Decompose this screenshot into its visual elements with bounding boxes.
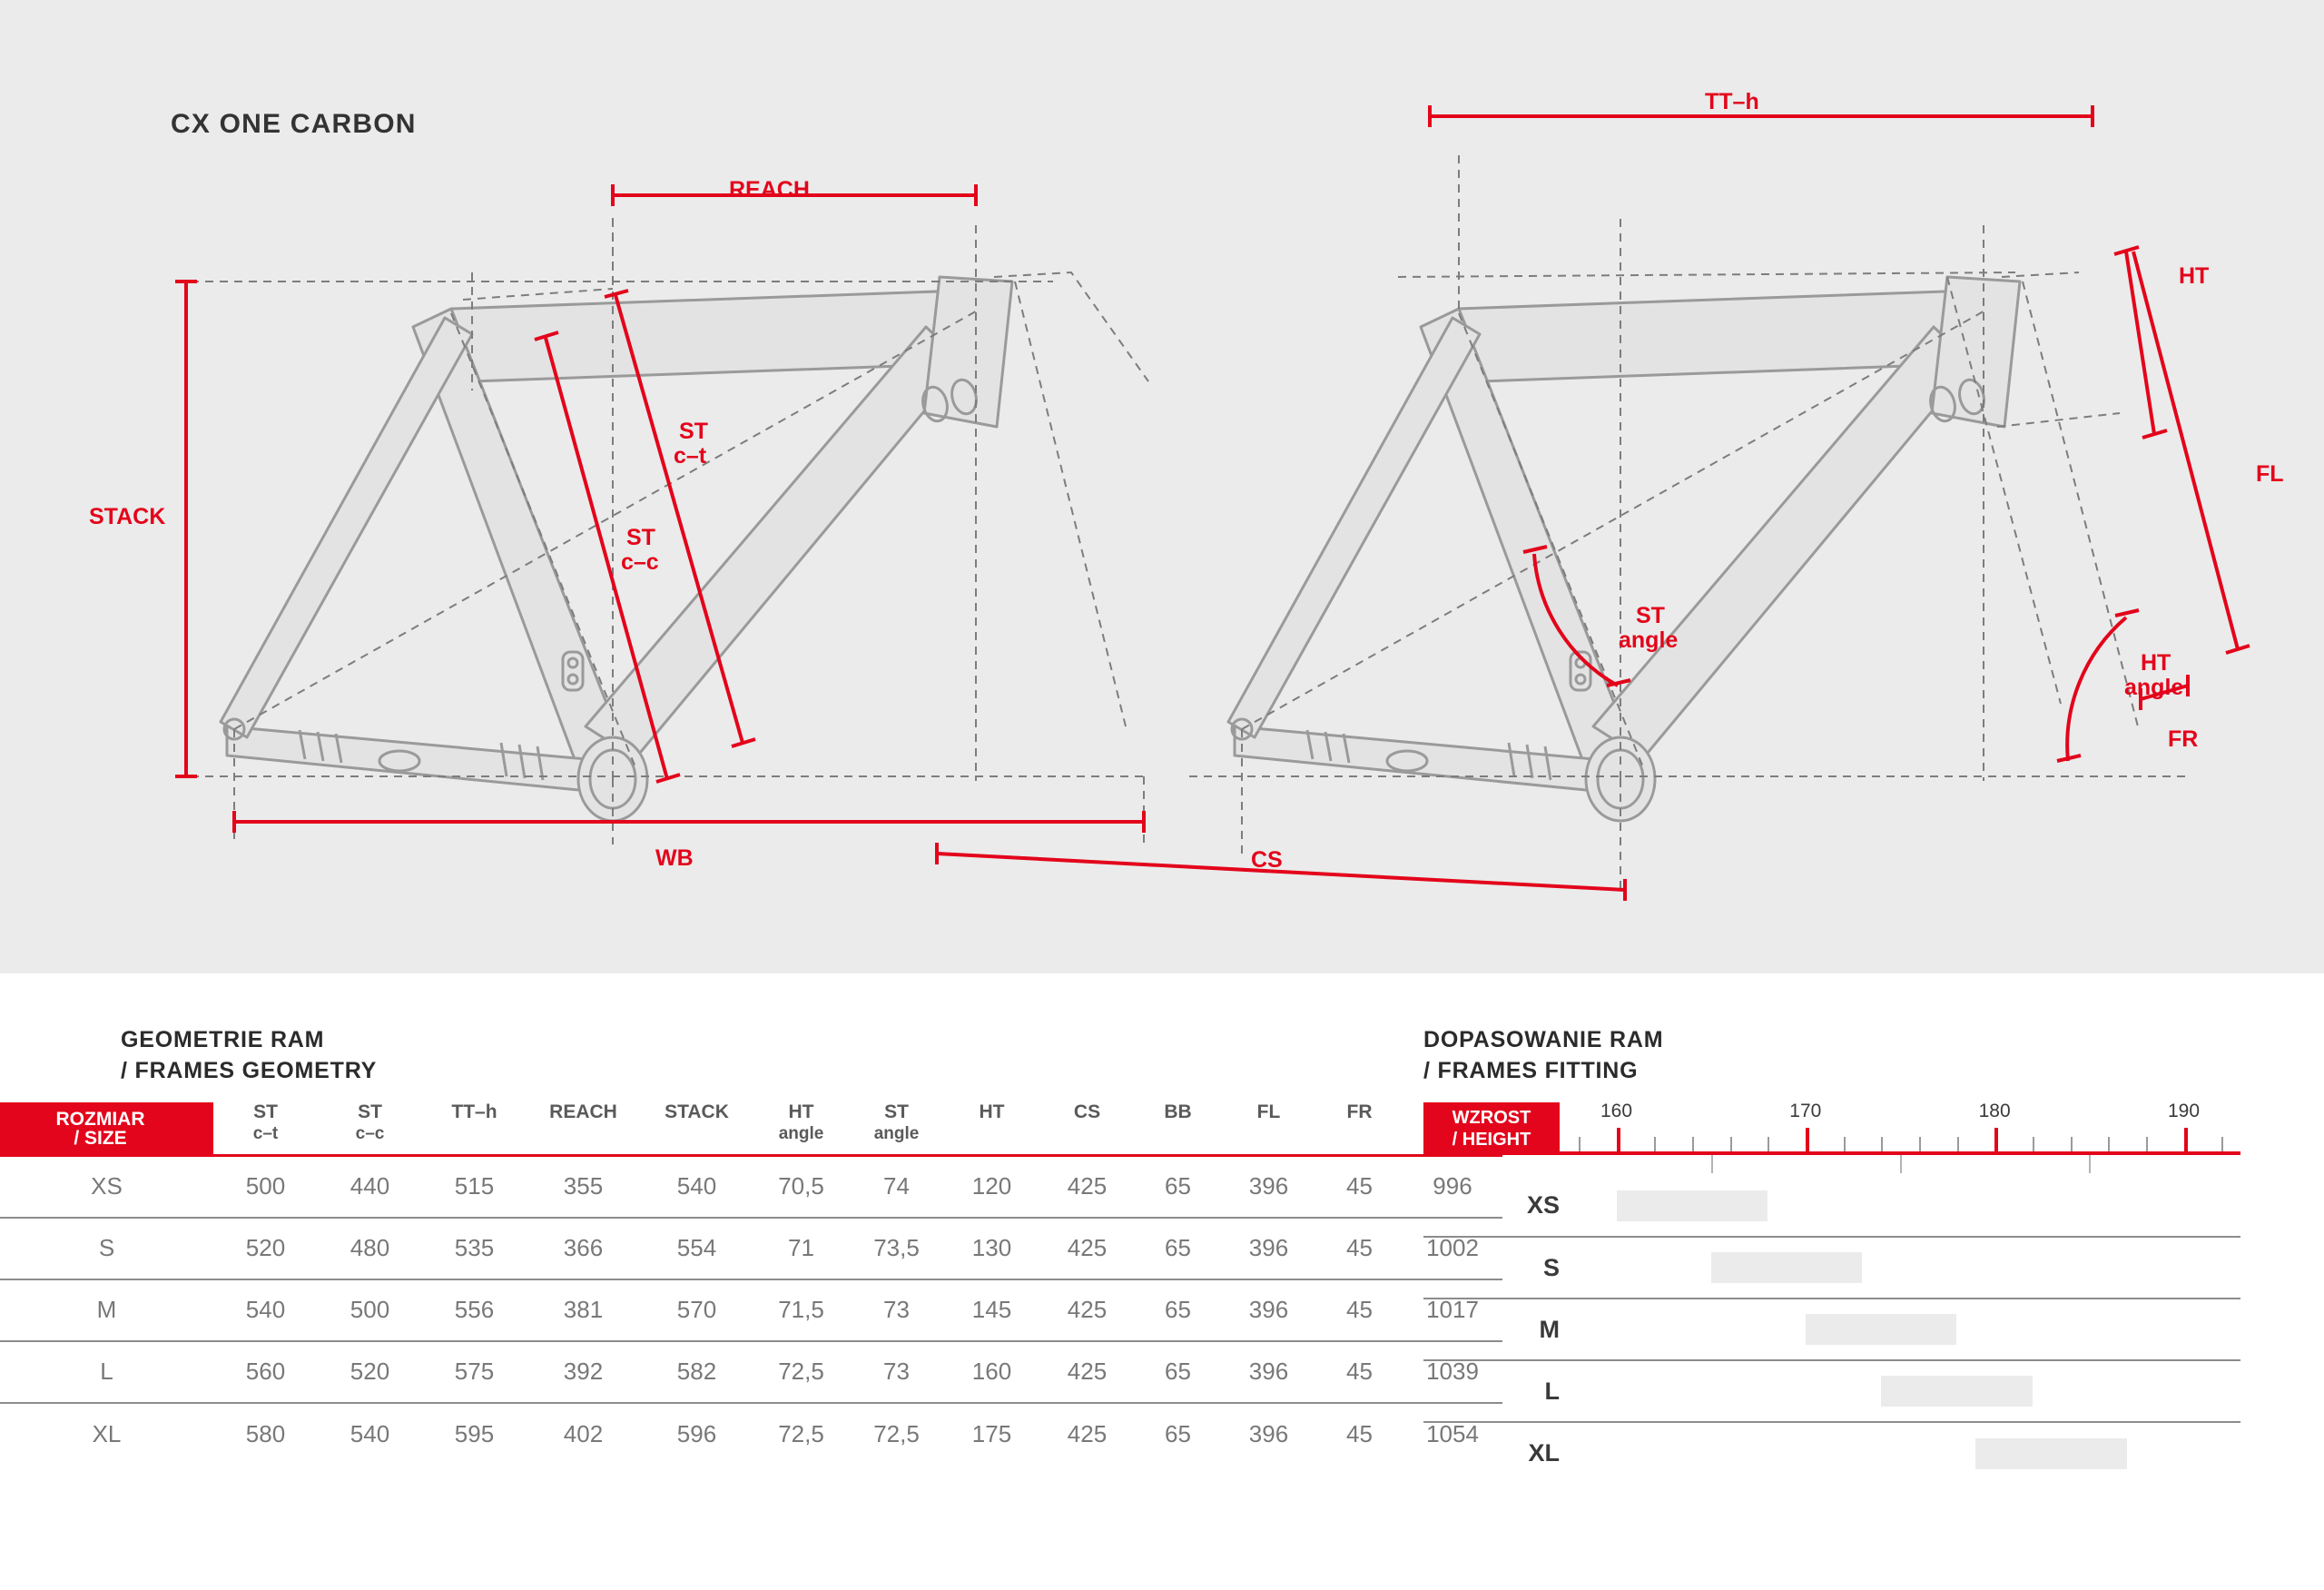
geometry-value-cell: 396 xyxy=(1221,1156,1316,1218)
fitting-header: WZROST / HEIGHT 160170180190 xyxy=(1423,1102,2240,1155)
geometry-value-cell: 396 xyxy=(1221,1403,1316,1465)
geometry-value-cell: 556 xyxy=(422,1279,527,1341)
geometry-value-cell: 71 xyxy=(753,1218,849,1279)
frames-fitting-table: XSSMLXL xyxy=(1423,1175,2240,1484)
geometry-value-cell: 554 xyxy=(640,1218,753,1279)
geometry-col-header-reach: REACH xyxy=(527,1102,640,1156)
fitting-range-cell xyxy=(1560,1299,2240,1360)
geometry-value-cell: 71,5 xyxy=(753,1279,849,1341)
label-st-ct-line1: ST xyxy=(679,419,708,444)
geometry-col-header-bb: BB xyxy=(1135,1102,1221,1156)
geometry-value-cell: 595 xyxy=(422,1403,527,1465)
geometry-value-cell: 500 xyxy=(213,1156,318,1218)
geometry-value-cell: 72,5 xyxy=(849,1403,944,1465)
ruler-major-tick xyxy=(1617,1128,1620,1151)
label-reach: REACH xyxy=(729,177,810,202)
table-row: S5204805353665547173,513042565396451002 xyxy=(0,1218,1502,1279)
col-header-main: ST xyxy=(358,1101,382,1122)
fitting-size-cell: XL xyxy=(1423,1422,1560,1484)
table-row: M54050055638157071,57314542565396451017 xyxy=(0,1279,1502,1341)
geometry-value-cell: 145 xyxy=(944,1279,1039,1341)
ruler-guide-line xyxy=(1711,1155,1713,1173)
geometry-value-cell: 396 xyxy=(1221,1218,1316,1279)
fitting-size-cell: S xyxy=(1423,1237,1560,1299)
list-item: M xyxy=(1423,1299,2240,1360)
frames-geometry-title: GEOMETRIE RAM / FRAMES GEOMETRY xyxy=(121,1024,377,1086)
ruler-minor-tick xyxy=(1579,1137,1581,1151)
col-header-sub: c–t xyxy=(213,1124,318,1143)
label-ht: HT xyxy=(2179,263,2209,289)
geometry-value-cell: 535 xyxy=(422,1218,527,1279)
geometry-value-cell: 425 xyxy=(1039,1279,1135,1341)
frames-fitting-wrap: WZROST / HEIGHT 160170180190 XSSMLXL xyxy=(1423,1102,2240,1484)
geometry-col-header-ht: HTangle xyxy=(753,1102,849,1156)
height-ruler: 160170180190 xyxy=(1560,1102,2240,1155)
label-st-angle-line2: angle xyxy=(1619,627,1678,653)
table-row: XS50044051535554070,5741204256539645996 xyxy=(0,1156,1502,1218)
ruler-tick-label: 160 xyxy=(1600,1101,1632,1122)
geometry-table-body: XS50044051535554070,5741204256539645996S… xyxy=(0,1156,1502,1465)
label-ht-angle-line2: angle xyxy=(2124,675,2183,700)
geometry-value-cell: 575 xyxy=(422,1341,527,1403)
ruler-minor-tick xyxy=(1730,1137,1732,1151)
ruler-minor-tick xyxy=(2033,1137,2034,1151)
geometry-value-cell: 425 xyxy=(1039,1218,1135,1279)
col-header-main: STACK xyxy=(665,1101,729,1122)
ruler-minor-tick xyxy=(2071,1137,2073,1151)
geometry-value-cell: 480 xyxy=(318,1218,422,1279)
fitting-range-bar xyxy=(1975,1438,2127,1469)
ruler-minor-tick xyxy=(2221,1137,2223,1151)
geometry-value-cell: 540 xyxy=(640,1156,753,1218)
geometry-value-cell: 65 xyxy=(1135,1279,1221,1341)
col-header-sub: angle xyxy=(849,1124,944,1143)
geometry-col-header-stack: STACK xyxy=(640,1102,753,1156)
geometry-col-header-tth: TT–h xyxy=(422,1102,527,1156)
geometry-value-cell: 45 xyxy=(1316,1279,1403,1341)
page-root: CX ONE CARBON .fr-fill { fill:#e3e3e3; s… xyxy=(0,0,2324,1590)
geometry-value-cell: 65 xyxy=(1135,1156,1221,1218)
col-header-main: HT xyxy=(980,1101,1005,1122)
geometry-title-line1: GEOMETRIE RAM xyxy=(121,1027,324,1052)
label-wb: WB xyxy=(655,845,694,871)
height-header-line2: / HEIGHT xyxy=(1452,1129,1531,1151)
ruler-minor-tick xyxy=(1844,1137,1846,1151)
ruler-minor-tick xyxy=(2146,1137,2148,1151)
ruler-minor-tick xyxy=(1768,1137,1769,1151)
geometry-col-header-cs: CS xyxy=(1039,1102,1135,1156)
geometry-table-head: ROZMIAR / SIZE STc–tSTc–cTT–hREACHSTACKH… xyxy=(0,1102,1502,1156)
geometry-value-cell: 396 xyxy=(1221,1279,1316,1341)
geometry-title-line2: / FRAMES GEOMETRY xyxy=(121,1058,377,1083)
geometry-value-cell: 500 xyxy=(318,1279,422,1341)
ruler-minor-tick xyxy=(1692,1137,1694,1151)
geometry-value-cell: 73,5 xyxy=(849,1218,944,1279)
size-header-line2: / SIZE xyxy=(74,1128,126,1149)
left-frame-drawing: STACK REACH ST c–t ST c–c WB xyxy=(89,177,1148,871)
geometry-value-cell: 440 xyxy=(318,1156,422,1218)
geometry-value-cell: 175 xyxy=(944,1403,1039,1465)
geometry-value-cell: 65 xyxy=(1135,1218,1221,1279)
fitting-title-line1: DOPASOWANIE RAM xyxy=(1423,1027,1663,1052)
fitting-size-cell: M xyxy=(1423,1299,1560,1360)
fitting-range-bar xyxy=(1881,1376,2033,1407)
frame-geometry-svg: .fr-fill { fill:#e3e3e3; stroke:#9a9a9a;… xyxy=(0,0,2324,973)
geometry-col-header-st: STc–t xyxy=(213,1102,318,1156)
geometry-value-cell: 120 xyxy=(944,1156,1039,1218)
frames-fitting-title: DOPASOWANIE RAM / FRAMES FITTING xyxy=(1423,1024,1663,1086)
geometry-value-cell: 540 xyxy=(318,1403,422,1465)
geometry-header-row: ROZMIAR / SIZE STc–tSTc–cTT–hREACHSTACKH… xyxy=(0,1102,1502,1156)
geometry-col-header-fr: FR xyxy=(1316,1102,1403,1156)
right-frame-drawing: TT–h HT FL FR ST angle HT angle xyxy=(937,89,2284,901)
geometry-value-cell: 366 xyxy=(527,1218,640,1279)
geometry-value-cell: 381 xyxy=(527,1279,640,1341)
col-header-main: REACH xyxy=(549,1101,617,1122)
geometry-value-cell: 130 xyxy=(944,1218,1039,1279)
list-item: XS xyxy=(1423,1175,2240,1237)
geometry-value-cell: 425 xyxy=(1039,1156,1135,1218)
ruler-tick-label: 170 xyxy=(1789,1101,1821,1122)
geometry-value-cell: 582 xyxy=(640,1341,753,1403)
geometry-value-cell: 425 xyxy=(1039,1341,1135,1403)
list-item: S xyxy=(1423,1237,2240,1299)
geometry-value-cell: 72,5 xyxy=(753,1341,849,1403)
geometry-value-cell: 70,5 xyxy=(753,1156,849,1218)
geometry-value-cell: 72,5 xyxy=(753,1403,849,1465)
geometry-value-cell: 402 xyxy=(527,1403,640,1465)
geometry-value-cell: 392 xyxy=(527,1341,640,1403)
geometry-value-cell: 45 xyxy=(1316,1218,1403,1279)
geometry-value-cell: 580 xyxy=(213,1403,318,1465)
list-item: XL xyxy=(1423,1422,2240,1484)
ruler-guide-line xyxy=(2089,1155,2091,1173)
col-header-main: ST xyxy=(253,1101,278,1122)
label-st-angle-line1: ST xyxy=(1636,603,1665,628)
ruler-major-tick xyxy=(1994,1128,1998,1151)
table-row: L56052057539258272,57316042565396451039 xyxy=(0,1341,1502,1403)
geometry-col-header-st: STc–c xyxy=(318,1102,422,1156)
geometry-size-cell: M xyxy=(0,1279,213,1341)
fitting-title-line2: / FRAMES FITTING xyxy=(1423,1058,1638,1083)
label-stack: STACK xyxy=(89,504,165,529)
col-header-main: BB xyxy=(1164,1101,1191,1122)
geometry-value-cell: 65 xyxy=(1135,1403,1221,1465)
height-header-line1: WZROST xyxy=(1452,1107,1531,1129)
fitting-range-cell xyxy=(1560,1175,2240,1237)
fitting-size-cell: XS xyxy=(1423,1175,1560,1237)
ruler-guide-line xyxy=(1900,1155,1902,1173)
table-row: XL58054059540259672,572,5175425653964510… xyxy=(0,1403,1502,1465)
geometry-value-cell: 520 xyxy=(318,1341,422,1403)
label-st-cc-line2: c–c xyxy=(621,549,659,575)
fitting-range-cell xyxy=(1560,1360,2240,1422)
label-fl: FL xyxy=(2256,461,2284,487)
geometry-col-header-fl: FL xyxy=(1221,1102,1316,1156)
fitting-range-bar xyxy=(1711,1252,1863,1283)
col-header-main: HT xyxy=(789,1101,814,1122)
fitting-range-cell xyxy=(1560,1422,2240,1484)
col-header-main: TT–h xyxy=(451,1101,497,1122)
ruler-minor-tick xyxy=(1957,1137,1959,1151)
col-header-main: ST xyxy=(884,1101,909,1122)
ruler-major-tick xyxy=(1806,1128,1809,1151)
fitting-range-cell xyxy=(1560,1237,2240,1299)
frames-geometry-table-wrap: ROZMIAR / SIZE STc–tSTc–cTT–hREACHSTACKH… xyxy=(0,1102,1353,1465)
fitting-height-header: WZROST / HEIGHT xyxy=(1423,1102,1560,1155)
col-header-main: FL xyxy=(1257,1101,1281,1122)
geometry-value-cell: 73 xyxy=(849,1341,944,1403)
col-header-sub: angle xyxy=(753,1124,849,1143)
col-header-sub: c–c xyxy=(318,1124,422,1143)
list-item: L xyxy=(1423,1360,2240,1422)
ruler-major-tick xyxy=(2184,1128,2188,1151)
ruler-tick-label: 190 xyxy=(2168,1101,2200,1122)
fitting-table-body: XSSMLXL xyxy=(1423,1175,2240,1484)
label-ht-angle-line1: HT xyxy=(2141,650,2171,676)
geometry-size-header: ROZMIAR / SIZE xyxy=(0,1102,213,1156)
geometry-value-cell: 570 xyxy=(640,1279,753,1341)
geometry-value-cell: 540 xyxy=(213,1279,318,1341)
label-cs: CS xyxy=(1251,847,1283,873)
geometry-value-cell: 45 xyxy=(1316,1156,1403,1218)
frames-geometry-table: ROZMIAR / SIZE STc–tSTc–cTT–hREACHSTACKH… xyxy=(0,1102,1502,1465)
geometry-size-cell: XL xyxy=(0,1403,213,1465)
geometry-value-cell: 355 xyxy=(527,1156,640,1218)
geometry-value-cell: 45 xyxy=(1316,1341,1403,1403)
col-header-main: CS xyxy=(1074,1101,1100,1122)
geometry-value-cell: 515 xyxy=(422,1156,527,1218)
fitting-range-bar xyxy=(1806,1314,1957,1345)
geometry-size-cell: S xyxy=(0,1218,213,1279)
geometry-value-cell: 396 xyxy=(1221,1341,1316,1403)
geometry-value-cell: 160 xyxy=(944,1341,1039,1403)
geometry-value-cell: 73 xyxy=(849,1279,944,1341)
col-header-main: FR xyxy=(1347,1101,1373,1122)
ruler-minor-tick xyxy=(2108,1137,2110,1151)
geometry-col-header-ht: HT xyxy=(944,1102,1039,1156)
geometry-value-cell: 425 xyxy=(1039,1403,1135,1465)
ruler-minor-tick xyxy=(1881,1137,1883,1151)
label-tt-h: TT–h xyxy=(1705,89,1759,114)
fitting-range-bar xyxy=(1617,1190,1768,1221)
label-st-ct-line2: c–t xyxy=(674,443,707,469)
geometry-size-cell: L xyxy=(0,1341,213,1403)
ruler-tick-label: 180 xyxy=(1979,1101,2011,1122)
size-header-line1: ROZMIAR xyxy=(56,1109,145,1130)
geometry-value-cell: 560 xyxy=(213,1341,318,1403)
geometry-value-cell: 74 xyxy=(849,1156,944,1218)
geometry-value-cell: 596 xyxy=(640,1403,753,1465)
frame-diagram-panel: CX ONE CARBON .fr-fill { fill:#e3e3e3; s… xyxy=(0,0,2324,973)
ruler-minor-tick xyxy=(1919,1137,1921,1151)
geometry-value-cell: 45 xyxy=(1316,1403,1403,1465)
ruler-minor-tick xyxy=(1654,1137,1656,1151)
geometry-value-cell: 65 xyxy=(1135,1341,1221,1403)
label-fr: FR xyxy=(2168,726,2198,752)
geometry-value-cell: 520 xyxy=(213,1218,318,1279)
tables-area: GEOMETRIE RAM / FRAMES GEOMETRY ROZMIAR … xyxy=(0,973,2324,1590)
fitting-size-cell: L xyxy=(1423,1360,1560,1422)
geometry-col-header-st: STangle xyxy=(849,1102,944,1156)
label-st-cc-line1: ST xyxy=(626,525,655,550)
geometry-size-cell: XS xyxy=(0,1156,213,1218)
